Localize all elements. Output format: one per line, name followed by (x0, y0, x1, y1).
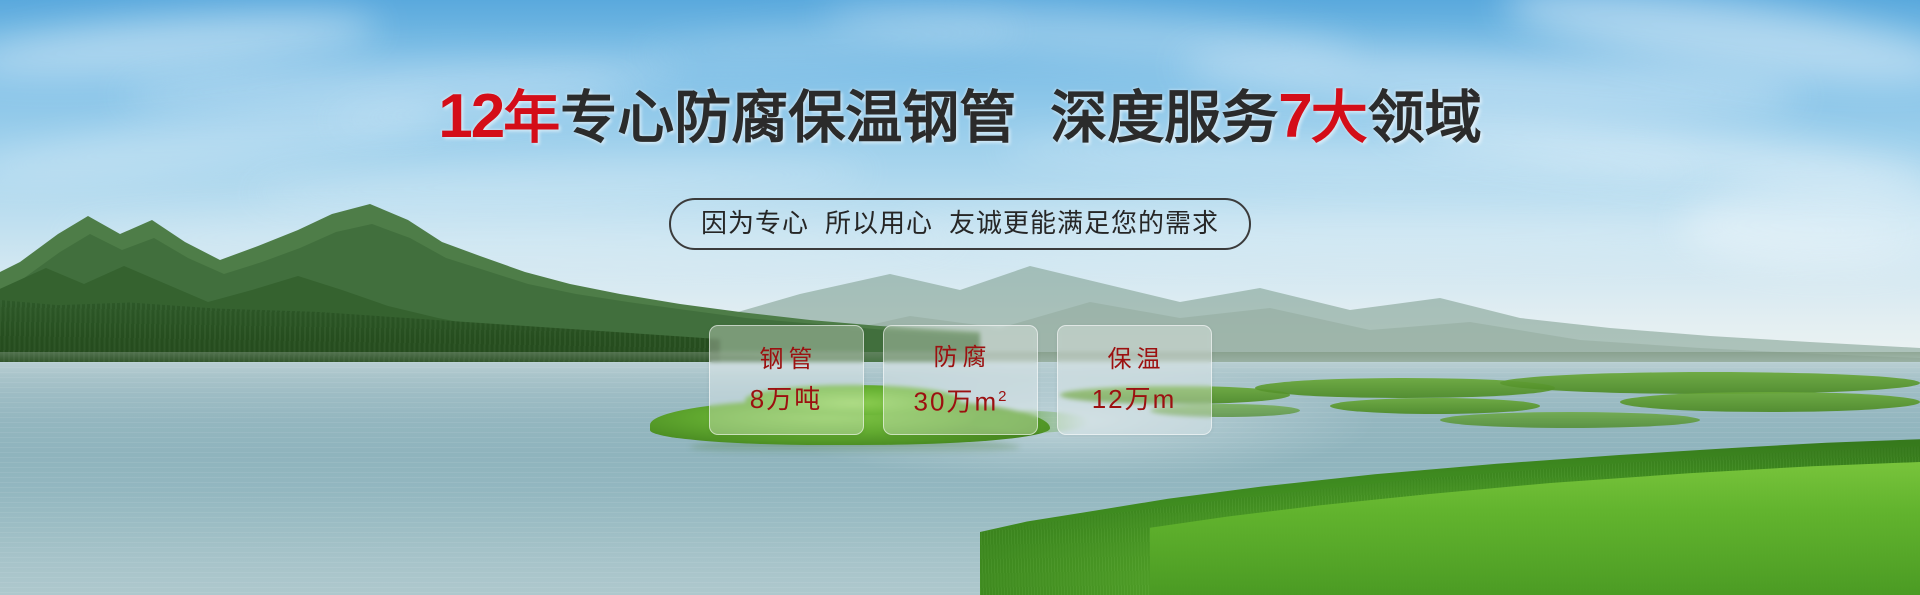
headline-years-unit: 年 (503, 86, 560, 150)
stat-card-value-text: 12万m (1092, 384, 1177, 414)
stat-card-value: 30万m2 (914, 383, 1007, 416)
banner-headline: 12年专心防腐保温钢管深度服务7大领域 (0, 84, 1920, 151)
stat-card-insulation[interactable]: 保温 12万m (1057, 325, 1212, 435)
headline-service-text: 深度服务 (1050, 86, 1278, 150)
stat-card-value-text: 30万m (914, 386, 999, 416)
headline-main-text: 专心防腐保温钢管 (560, 86, 1016, 150)
headline-fields-number: 7 (1278, 82, 1310, 151)
stat-card-value: 12万m (1092, 385, 1177, 413)
stat-card-steel-pipe[interactable]: 钢管 8万吨 (709, 325, 864, 435)
subtitle-container: 因为专心所以用心友诚更能满足您的需求 (0, 198, 1920, 250)
subtitle-part-1: 因为专心 (701, 208, 809, 238)
headline-fields-text: 领域 (1368, 86, 1482, 150)
stat-card-value-text: 8万吨 (750, 384, 822, 414)
headline-fields-unit: 大 (1311, 86, 1368, 150)
stat-card-value-superscript: 2 (998, 388, 1006, 405)
stat-card-label: 钢管 (755, 347, 818, 373)
stat-card-group: 钢管 8万吨 防腐 30万m2 保温 12万m (0, 325, 1920, 435)
subtitle-part-3: 友诚更能满足您的需求 (949, 208, 1219, 238)
hero-banner: 12年专心防腐保温钢管深度服务7大领域 因为专心所以用心友诚更能满足您的需求 钢… (0, 0, 1920, 595)
subtitle-pill: 因为专心所以用心友诚更能满足您的需求 (669, 198, 1251, 250)
subtitle-part-2: 所以用心 (825, 208, 933, 238)
stat-card-value: 8万吨 (750, 385, 822, 413)
headline-years-number: 12 (438, 82, 503, 151)
stat-card-anticorrosion[interactable]: 防腐 30万m2 (883, 325, 1038, 435)
stat-card-label: 保温 (1103, 347, 1166, 373)
stat-card-label: 防腐 (929, 345, 992, 371)
